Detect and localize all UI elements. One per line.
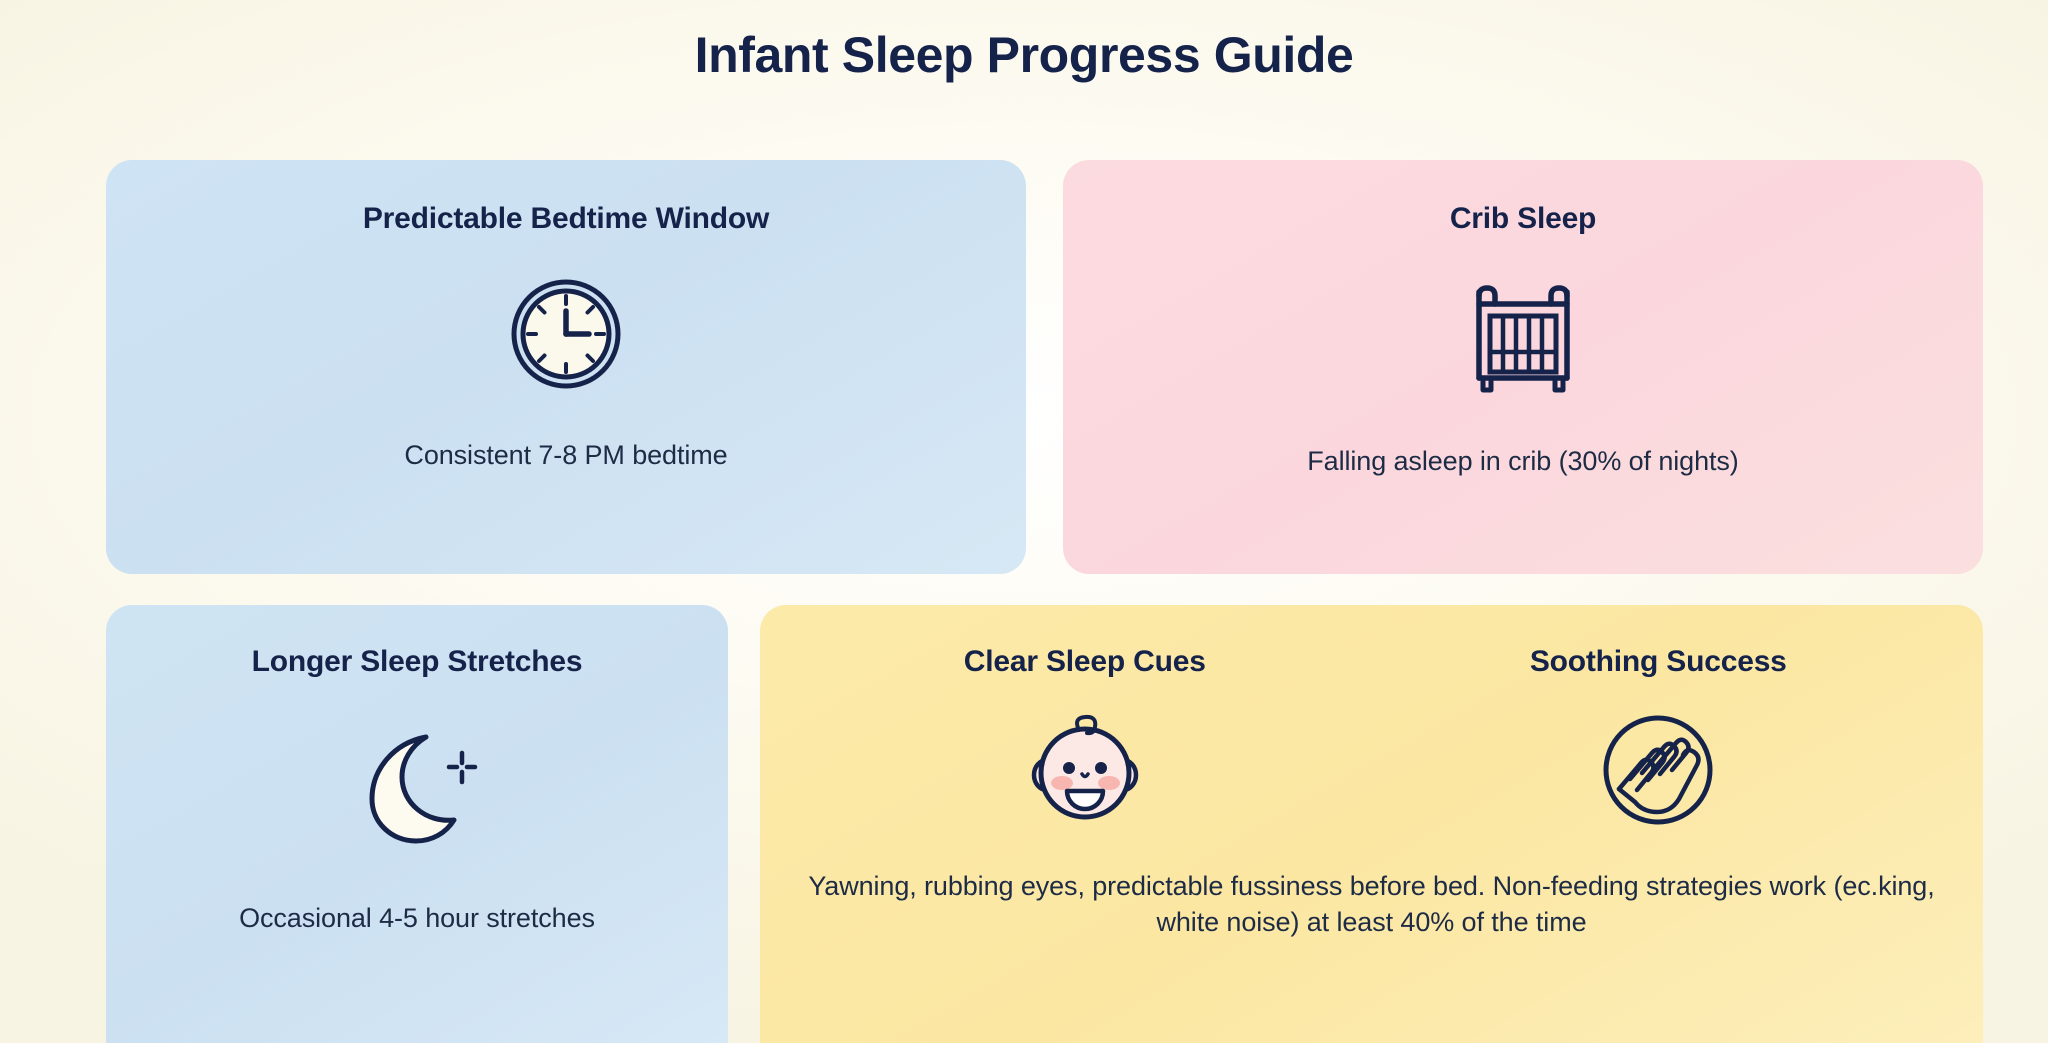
card-longer-sleep-stretches[interactable]: Longer Sleep Stretches Occasional 4-5 ho… [106, 605, 728, 1043]
card-title: Clear Sleep Cues [964, 645, 1206, 679]
card-body-text: Yawning, rubbing eyes, predictable fussi… [760, 869, 1983, 941]
crescent-moon-icon [354, 727, 480, 847]
card-predictable-bedtime-window[interactable]: Predictable Bedtime Window Consistent 7-… [106, 160, 1026, 574]
card-caption: Occasional 4-5 hour stretches [239, 903, 595, 934]
baby-face-icon [1021, 711, 1149, 829]
card-caption: Falling asleep in crib (30% of nights) [1307, 446, 1738, 477]
clock-icon [510, 278, 622, 390]
card-caption: Consistent 7-8 PM bedtime [404, 440, 727, 471]
card-title: Predictable Bedtime Window [363, 202, 769, 236]
column-clear-sleep-cues[interactable]: Clear Sleep Cues [821, 645, 1349, 829]
column-soothing-success[interactable]: Soothing Success [1394, 645, 1922, 829]
card-sleep-cues-and-soothing[interactable]: Clear Sleep Cues Soothing Success [760, 605, 1983, 1043]
page-title: Infant Sleep Progress Guide [0, 26, 2048, 84]
card-title: Longer Sleep Stretches [252, 645, 583, 679]
hand-in-circle-icon [1597, 711, 1719, 829]
crib-icon [1463, 278, 1583, 396]
card-title: Soothing Success [1530, 645, 1787, 679]
card-title: Crib Sleep [1450, 202, 1596, 236]
card-crib-sleep[interactable]: Crib Sleep Falling asleep in crib (30% o… [1063, 160, 1983, 574]
